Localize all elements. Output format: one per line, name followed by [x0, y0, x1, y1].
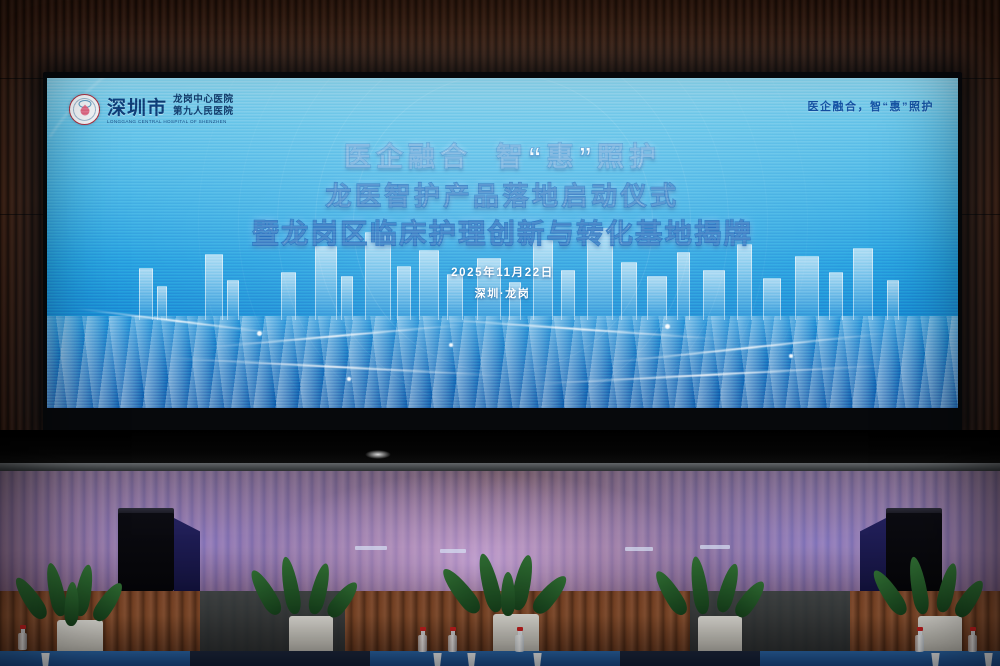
led-screen-bezel: 深圳市 龙岗中心医院 第九人民医院 LONGGANG CENTRAL HOSPI… [43, 72, 962, 434]
title-line-1-part-2: 智“惠”照护 [496, 142, 661, 172]
event-title-block: 医企融合智“惠”照护 龙医智护产品落地启动仪式 暨龙岗区临床护理创新与转化基地揭… [47, 144, 958, 301]
water-bottle [448, 627, 457, 652]
title-line-2: 龙医智护产品落地启动仪式 [47, 183, 958, 209]
logo-english-name: LONGGANG CENTRAL HOSPITAL OF SHENZHEN [107, 119, 234, 124]
potted-plant [880, 556, 1000, 666]
event-date: 2025年11月22日 [47, 264, 958, 280]
table-cloth [0, 651, 190, 666]
hospital-logo: 深圳市 龙岗中心医院 第九人民医院 LONGGANG CENTRAL HOSPI… [69, 94, 234, 125]
hospital-crest-emblem-icon [69, 94, 100, 125]
water-bottle [915, 627, 924, 652]
title-line-3: 暨龙岗区临床护理创新与转化基地揭牌 [47, 221, 958, 248]
logo-hospital-line1: 龙岗中心医院 [173, 95, 234, 106]
logo-hospital-line2: 第九人民医院 [173, 107, 234, 118]
potted-plant [252, 556, 370, 666]
table-cloth [370, 651, 620, 666]
title-line-1: 医企融合智“惠”照护 [47, 144, 958, 171]
ledge-highlight [365, 450, 391, 459]
auditorium-scene: 深圳市 龙岗中心医院 第九人民医院 LONGGANG CENTRAL HOSPI… [0, 0, 1000, 666]
led-screen-display: 深圳市 龙岗中心医院 第九人民医院 LONGGANG CENTRAL HOSPI… [47, 78, 958, 408]
water-bottle [515, 627, 524, 652]
potted-plant [660, 556, 780, 666]
title-line-1-part-1: 医企融合 [344, 142, 472, 172]
top-right-slogan: 医企融合，智“惠”照护 [808, 98, 935, 114]
water-bottle [968, 627, 977, 652]
logo-city-name: 深圳市 [107, 99, 167, 118]
water-bottle [418, 627, 427, 652]
event-location: 深圳·龙岗 [47, 285, 958, 301]
table-cloth [760, 651, 1000, 666]
perspective-grid-floor [47, 316, 958, 408]
water-bottle [18, 625, 27, 650]
